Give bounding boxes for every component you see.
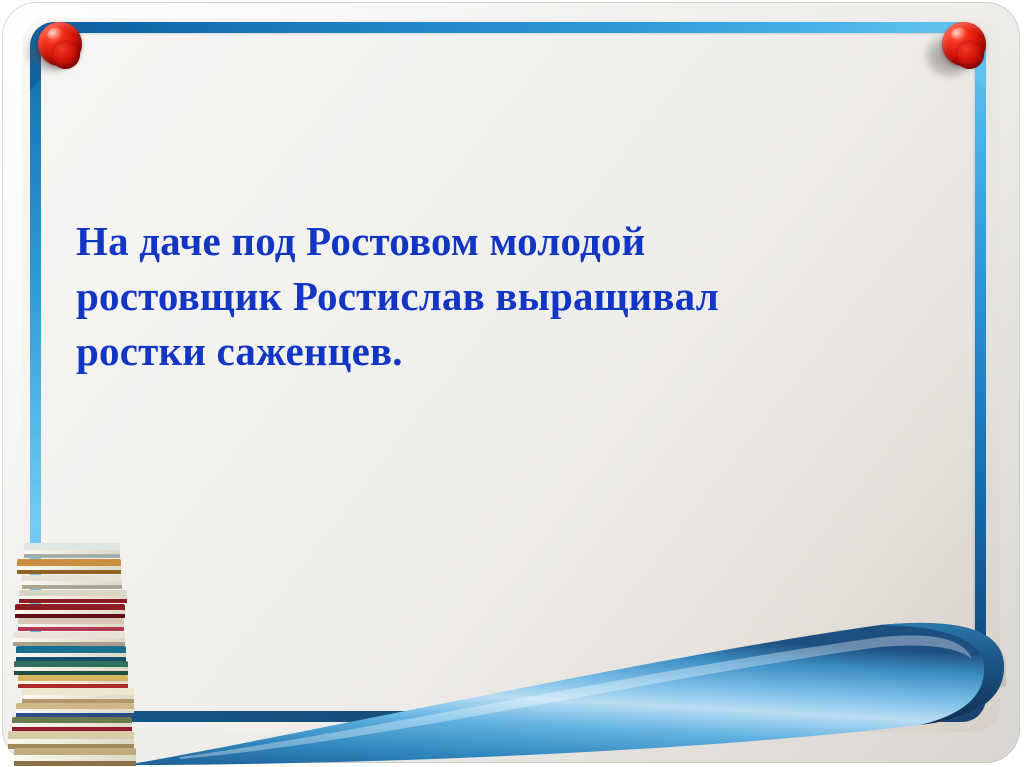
border-edge-right [975,56,986,688]
slide-canvas: На даче под Ростовом молодой ростовщик Р… [0,0,1024,767]
books-stack-icon [2,535,152,767]
border-corner-bottom-right [918,654,986,722]
pushpin-top-left [24,14,96,86]
quote-text-block: На даче под Ростовом молодой ростовщик Р… [76,214,816,379]
quote-line: ростки саженцев. [76,324,816,379]
border-edge-top [64,22,952,33]
books-group [8,543,136,766]
pushpin-lobe [51,40,80,69]
pushpin-top-right [928,14,1000,86]
border-edge-bottom [64,711,952,722]
quote-line: ростовщик Ростислав выращивал [76,269,816,324]
books-stack-decoration [2,535,152,767]
pushpin-lobe [955,40,984,69]
quote-line: На даче под Ростовом молодой [76,214,816,269]
